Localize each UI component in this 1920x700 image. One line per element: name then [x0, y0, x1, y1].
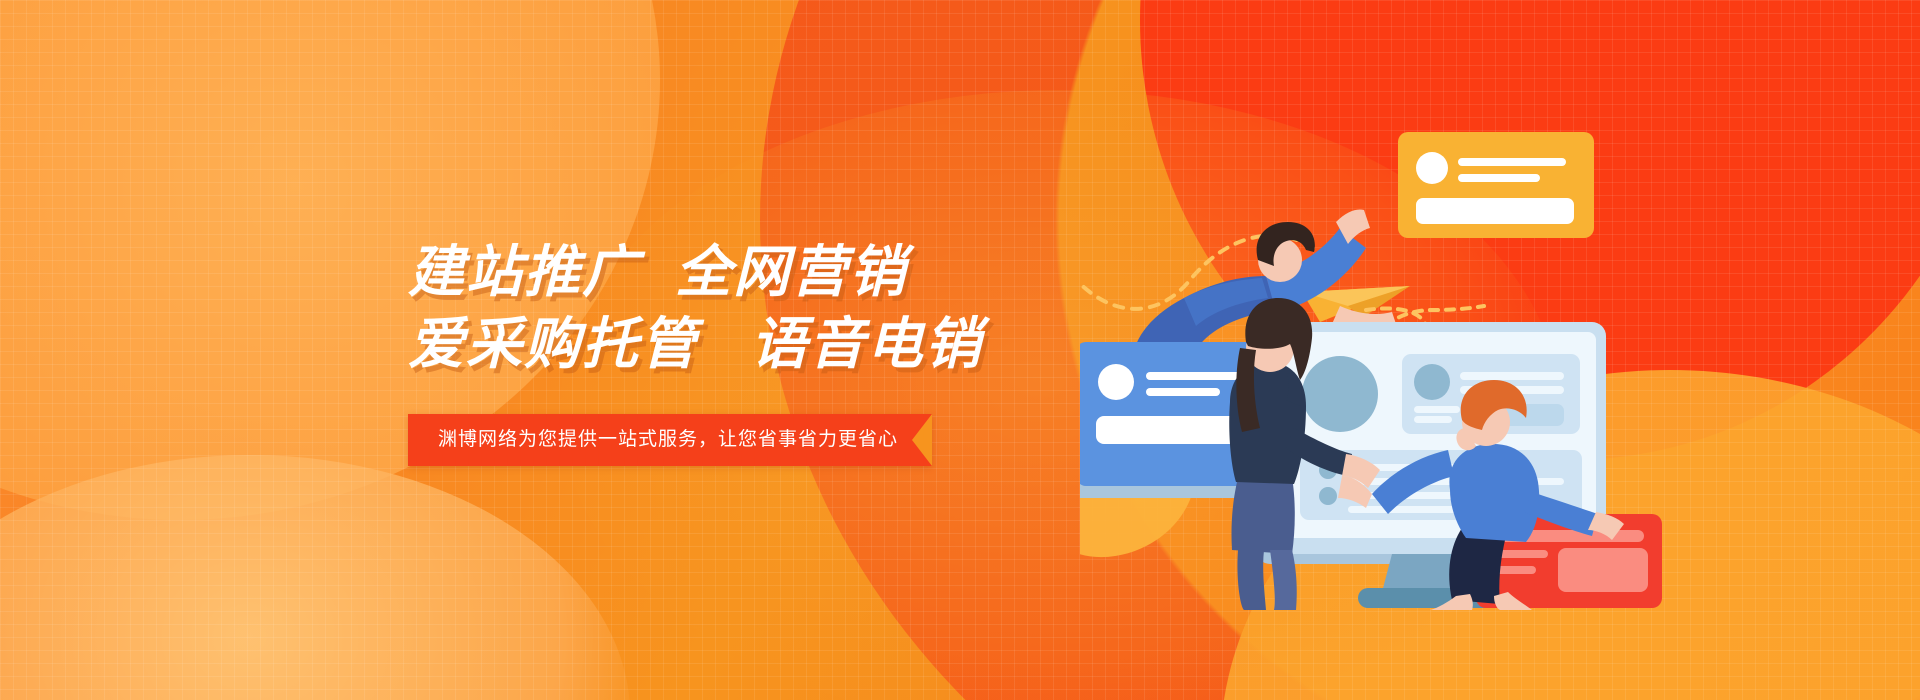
- promo-banner: 建站推广 全网营销 爱采购托管 语音电销 渊博网络为您提供一站式服务，让您省事省…: [0, 0, 1920, 700]
- headline-line-1: 建站推广 全网营销: [408, 236, 1028, 308]
- background-blob-bottom-left: [0, 455, 630, 700]
- headline-line-2: 爱采购托管 语音电销: [408, 308, 1028, 380]
- subheadline-ribbon: 渊博网络为您提供一站式服务，让您省事省力更省心: [408, 414, 932, 466]
- hero-illustration: [1080, 110, 1920, 610]
- yellow-profile-card: [1398, 132, 1594, 238]
- copy-block: 建站推广 全网营销 爱采购托管 语音电销 渊博网络为您提供一站式服务，让您省事省…: [408, 236, 1028, 466]
